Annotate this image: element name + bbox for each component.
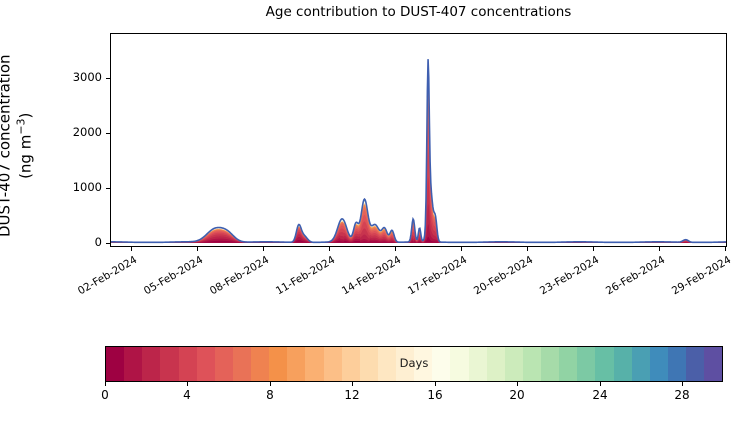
colorbar-swatch	[360, 347, 378, 381]
age-band-8	[111, 86, 726, 243]
colorbar-swatch	[215, 347, 233, 381]
y-axis-label-line1: DUST-407 concentration	[0, 54, 13, 237]
colorbar-swatch	[450, 347, 468, 381]
y-tick-label: 0	[60, 235, 102, 249]
colorbar-swatch	[324, 347, 342, 381]
colorbar-tick-label: 4	[167, 388, 207, 402]
colorbar-tick-mark	[270, 382, 271, 386]
y-axis-label-exponent: −3	[15, 118, 28, 134]
y-axis-label-line2b: )	[17, 113, 35, 119]
x-tick-label: 17-Feb-2024	[406, 254, 469, 297]
colorbar-swatch	[160, 347, 178, 381]
colorbar-swatch	[541, 347, 559, 381]
colorbar-tick-label: 12	[332, 388, 372, 402]
age-band-29	[111, 59, 726, 243]
colorbar-tick-label: 28	[662, 388, 702, 402]
age-band-5	[111, 121, 726, 243]
colorbar-tick-label: 24	[580, 388, 620, 402]
x-tick-mark	[593, 247, 594, 251]
colorbar-tick-mark	[435, 382, 436, 386]
colorbar-tick-mark	[517, 382, 518, 386]
chart-figure: Age contribution to DUST-407 concentrati…	[0, 0, 739, 425]
x-tick-label: 23-Feb-2024	[538, 254, 601, 297]
x-tick-label: 11-Feb-2024	[274, 254, 337, 297]
colorbar-swatch	[668, 347, 686, 381]
colorbar-tick-mark	[105, 382, 106, 386]
colorbar-swatch	[523, 347, 541, 381]
colorbar-tick-mark	[682, 382, 683, 386]
colorbar-swatch	[269, 347, 287, 381]
x-tick-label: 29-Feb-2024	[670, 254, 733, 297]
age-band-20	[111, 68, 726, 243]
x-tick-mark	[659, 247, 660, 251]
x-tick-mark	[527, 247, 528, 251]
age-band-10	[111, 82, 726, 243]
age-band-23	[111, 64, 726, 243]
y-tick-label: 1000	[60, 180, 102, 194]
colorbar-tick-mark	[600, 382, 601, 386]
x-tick-label: 20-Feb-2024	[472, 254, 535, 297]
colorbar-swatch	[487, 347, 505, 381]
age-band-16	[111, 75, 726, 243]
colorbar-swatch	[124, 347, 142, 381]
colorbar-swatch	[197, 347, 215, 381]
colorbar-tick-label: 8	[250, 388, 290, 402]
colorbar[interactable]	[105, 346, 723, 382]
x-tick-mark	[329, 247, 330, 251]
x-tick-label: 05-Feb-2024	[142, 254, 205, 297]
age-band-11	[111, 81, 726, 243]
age-band-22	[111, 65, 726, 243]
colorbar-tick-label: 16	[415, 388, 455, 402]
age-band-26	[111, 61, 726, 243]
x-tick-mark	[131, 247, 132, 251]
y-axis-label-line2: (ng m	[17, 135, 35, 179]
x-tick-label: 02-Feb-2024	[76, 254, 139, 297]
colorbar-swatch	[432, 347, 450, 381]
colorbar-swatch	[414, 347, 432, 381]
age-band-27	[111, 60, 726, 243]
x-tick-label: 08-Feb-2024	[208, 254, 271, 297]
colorbar-swatch	[396, 347, 414, 381]
x-tick-mark	[461, 247, 462, 251]
colorbar-swatch	[559, 347, 577, 381]
colorbar-tick-label: 20	[497, 388, 537, 402]
x-tick-mark	[263, 247, 264, 251]
age-band-18	[111, 71, 726, 242]
x-tick-label: 14-Feb-2024	[340, 254, 403, 297]
chart-title: Age contribution to DUST-407 concentrati…	[110, 4, 727, 20]
age-band-28	[111, 60, 726, 243]
colorbar-swatch	[142, 347, 160, 381]
colorbar-tick-mark	[352, 382, 353, 386]
colorbar-swatch	[378, 347, 396, 381]
colorbar-swatch	[233, 347, 251, 381]
age-band-14	[111, 78, 726, 243]
y-axis-label-container: DUST-407 concentration (ng m−3)	[0, 25, 30, 255]
colorbar-swatch	[614, 347, 632, 381]
colorbar-swatch	[251, 347, 269, 381]
stacked-area-plot	[111, 34, 726, 246]
colorbar-swatch	[179, 347, 197, 381]
colorbar-swatch	[106, 347, 124, 381]
colorbar-swatch	[577, 347, 595, 381]
age-band-24	[111, 63, 726, 243]
colorbar-swatch	[650, 347, 668, 381]
plot-axes	[110, 33, 727, 247]
age-band-17	[111, 73, 726, 243]
colorbar-swatch	[342, 347, 360, 381]
total-concentration-outline	[111, 59, 726, 242]
age-band-21	[111, 67, 726, 243]
age-band-19	[111, 70, 726, 243]
y-tick-label: 2000	[60, 125, 102, 139]
colorbar-swatch	[632, 347, 650, 381]
x-tick-mark	[725, 247, 726, 251]
colorbar-tick-label: 0	[85, 388, 125, 402]
y-tick-label: 3000	[60, 70, 102, 84]
age-band-15	[111, 76, 726, 243]
x-tick-mark	[395, 247, 396, 251]
age-band-6	[111, 102, 726, 243]
colorbar-swatch	[704, 347, 722, 381]
colorbar-swatch	[305, 347, 323, 381]
age-band-13	[111, 79, 726, 243]
age-band-12	[111, 80, 726, 243]
x-tick-label: 26-Feb-2024	[604, 254, 667, 297]
age-band-9	[111, 83, 726, 242]
colorbar-tick-mark	[187, 382, 188, 386]
colorbar-swatch	[595, 347, 613, 381]
y-axis-label: DUST-407 concentration (ng m−3)	[0, 33, 36, 259]
colorbar-swatch	[287, 347, 305, 381]
age-band-25	[111, 62, 726, 243]
x-tick-mark	[197, 247, 198, 251]
colorbar-swatch	[686, 347, 704, 381]
age-band-7	[111, 91, 726, 243]
colorbar-swatch	[505, 347, 523, 381]
colorbar-swatch	[469, 347, 487, 381]
